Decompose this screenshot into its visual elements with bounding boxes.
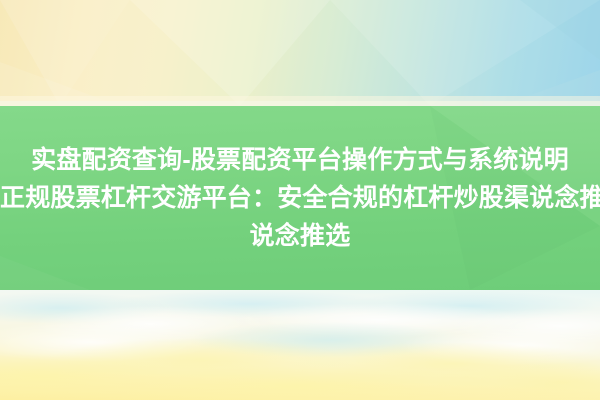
banner-image: 实盘配资查询-股票配资平台操作方式与系统说明 正规股票杠杆交游平台：安全合规的杠… — [0, 0, 600, 400]
low-poly-facets — [0, 0, 600, 106]
bottom-sky-band — [0, 290, 600, 400]
green-band-facets — [0, 106, 600, 290]
green-content-band — [0, 106, 600, 290]
top-geometric-band — [0, 0, 600, 106]
cloud-texture — [0, 290, 600, 400]
